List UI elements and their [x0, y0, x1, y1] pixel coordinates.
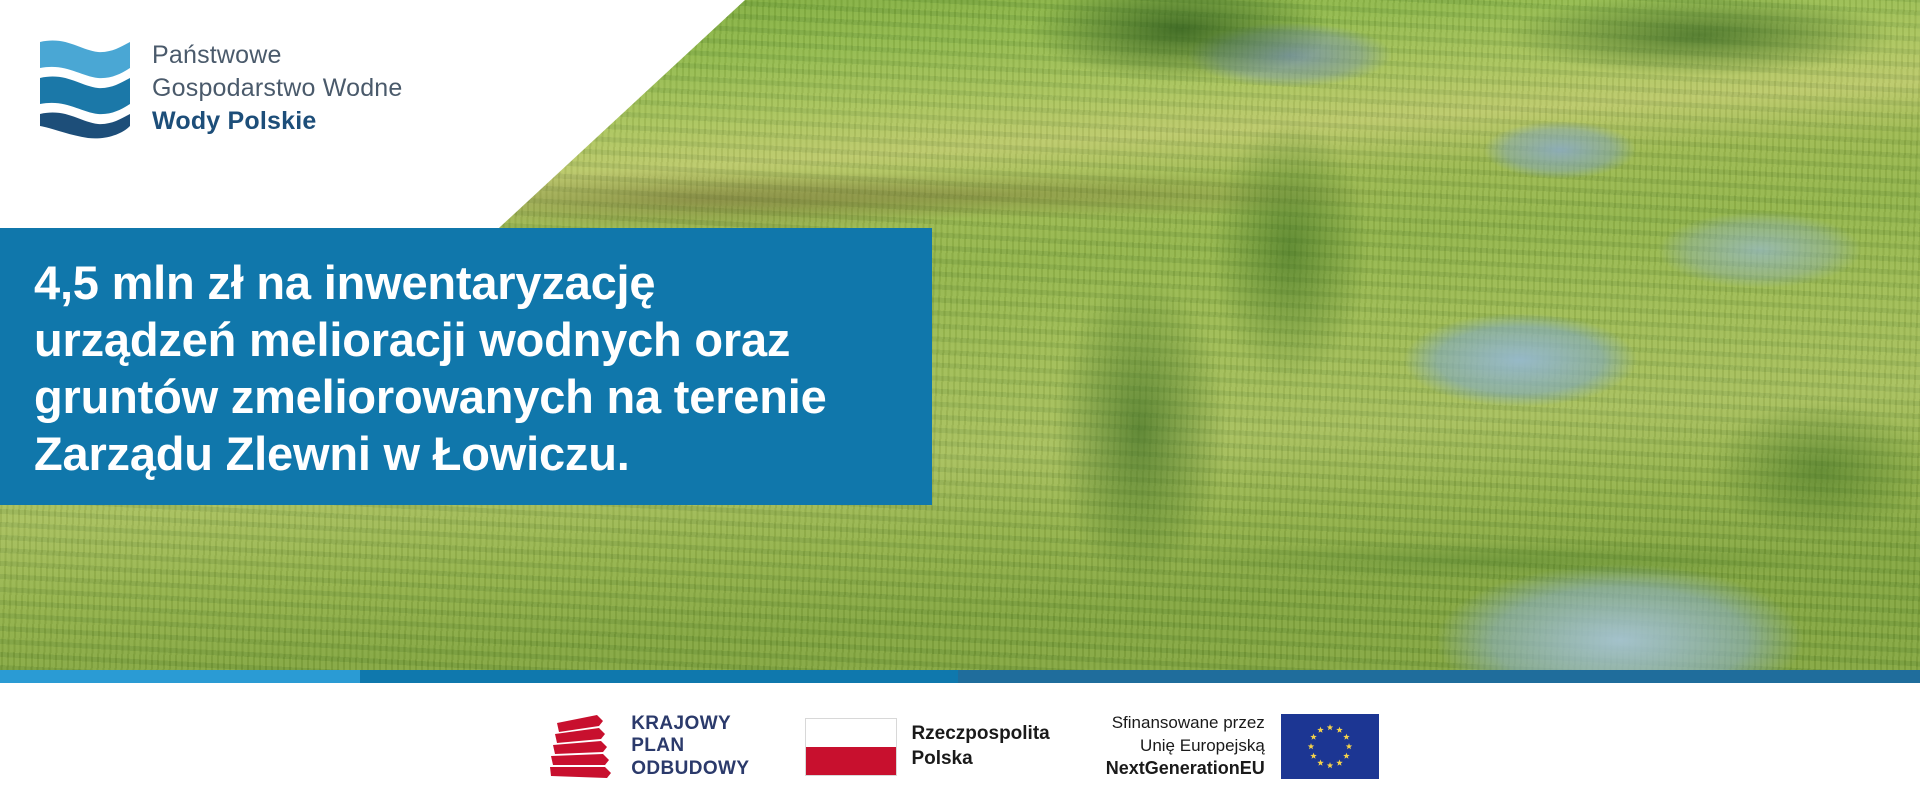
page-title: 4,5 mln zł na inwentaryzację urządzeń me…	[34, 254, 902, 482]
logo-line-3: Wody Polskie	[152, 105, 403, 138]
kpo-line-1: KRAJOWY	[631, 713, 749, 735]
headline-line-1: 4,5 mln zł na inwentaryzację	[34, 254, 902, 311]
krajowy-plan-odbudowy-icon	[541, 711, 615, 783]
republic-of-poland-logo: Rzeczpospolita Polska	[805, 718, 1049, 776]
poland-flag-icon	[805, 718, 897, 776]
headline-line-2: urządzeń melioracji wodnych oraz	[34, 311, 902, 368]
logo-line-1: Państwowe	[152, 39, 403, 72]
logo-wordmark: Państwowe Gospodarstwo Wodne Wody Polski…	[152, 39, 403, 138]
wody-polskie-logo: Państwowe Gospodarstwo Wodne Wody Polski…	[36, 34, 403, 142]
eu-line-3: NextGenerationEU	[1106, 757, 1265, 781]
logo-line-2: Gospodarstwo Wodne	[152, 72, 403, 105]
republic-line-1: Rzeczpospolita	[911, 722, 1049, 747]
kpo-line-3: ODBUDOWY	[631, 758, 749, 780]
headline-line-4: Zarządu Zlewni w Łowiczu.	[34, 425, 902, 482]
eu-stars-circle	[1281, 714, 1379, 779]
european-union-flag-icon	[1281, 714, 1379, 779]
krajowy-plan-odbudowy-logo: KRAJOWY PLAN ODBUDOWY	[541, 711, 749, 783]
headline-line-3: gruntów zmeliorowanych na terenie	[34, 368, 902, 425]
poland-flag-white-band	[806, 719, 896, 747]
funding-logos-footer: KRAJOWY PLAN ODBUDOWY Rzeczpospolita Pol…	[0, 683, 1920, 810]
promotional-banner: Państwowe Gospodarstwo Wodne Wody Polski…	[0, 0, 1920, 810]
headline-panel: 4,5 mln zł na inwentaryzację urządzeń me…	[0, 228, 932, 505]
republic-line-2: Polska	[911, 747, 1049, 772]
kpo-line-2: PLAN	[631, 735, 749, 757]
eu-line-2: Unię Europejską	[1106, 735, 1265, 757]
eu-line-1: Sfinansowane przez	[1106, 712, 1265, 734]
poland-flag-red-band	[806, 747, 896, 775]
republic-wordmark: Rzeczpospolita Polska	[911, 722, 1049, 771]
eu-funding-text: Sfinansowane przez Unię Europejską NextG…	[1106, 712, 1265, 781]
three-wave-shield-icon	[36, 34, 134, 142]
eu-funding-logo: Sfinansowane przez Unię Europejską NextG…	[1106, 712, 1379, 781]
kpo-wordmark: KRAJOWY PLAN ODBUDOWY	[631, 713, 749, 780]
